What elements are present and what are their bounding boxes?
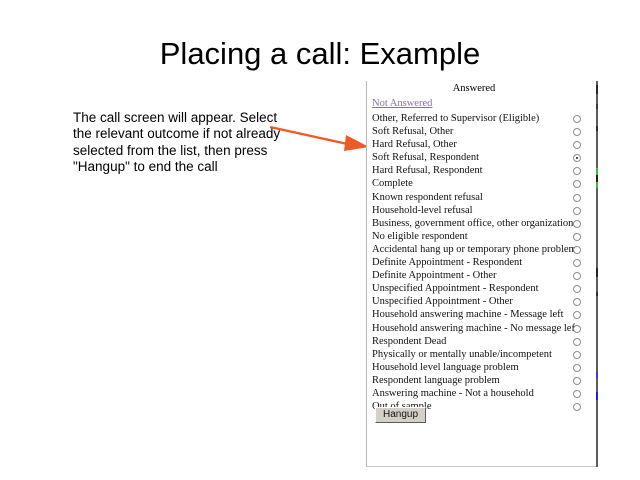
outcome-row[interactable]: Hard Refusal, Respondent	[367, 164, 597, 177]
outcome-row[interactable]: Other, Referred to Supervisor (Eligible)	[367, 112, 597, 125]
outcome-radio-button[interactable]	[573, 207, 581, 215]
outcome-radio-button[interactable]	[573, 154, 581, 162]
outcome-row[interactable]: No eligible respondent	[367, 230, 597, 243]
outcome-radio-button[interactable]	[573, 233, 581, 241]
outcome-row[interactable]: Unspecified Appointment - Other	[367, 295, 597, 308]
edge-artifact	[596, 168, 598, 175]
outcome-label: No eligible respondent	[372, 230, 468, 243]
outcome-label: Soft Refusal, Other	[372, 125, 453, 138]
outcome-radio-button[interactable]	[573, 338, 581, 346]
outcome-label: Respondent Dead	[372, 335, 446, 348]
outcome-radio-button[interactable]	[573, 141, 581, 149]
outcome-row[interactable]: Complete	[367, 177, 597, 190]
outcome-row[interactable]: Household answering machine - No message…	[367, 322, 597, 335]
outcome-label: Other, Referred to Supervisor (Eligible)	[372, 112, 539, 125]
outcome-radio-button[interactable]	[573, 180, 581, 188]
outcome-row[interactable]: Business, government office, other organ…	[367, 217, 597, 230]
outcome-label: Unspecified Appointment - Other	[372, 295, 513, 308]
outcome-radio-button[interactable]	[573, 377, 581, 385]
outcome-radio-button[interactable]	[573, 325, 581, 333]
outcome-radio-button[interactable]	[573, 246, 581, 254]
outcome-label: Soft Refusal, Respondent	[372, 151, 479, 164]
outcome-label: Answering machine - Not a household	[372, 387, 534, 400]
answered-heading: Answered	[367, 83, 581, 94]
outcome-label: Household level language problem	[372, 361, 519, 374]
outcome-label: Accidental hang up or temporary phone pr…	[372, 243, 577, 256]
outcome-radio-button[interactable]	[573, 272, 581, 280]
outcome-row[interactable]: Soft Refusal, Other	[367, 125, 597, 138]
arrow-annotation-icon	[268, 118, 378, 163]
page-title: Placing a call: Example	[0, 36, 640, 72]
outcome-label: Unspecified Appointment - Respondent	[372, 282, 539, 295]
outcome-radio-button[interactable]	[573, 128, 581, 136]
outcome-radio-button[interactable]	[573, 115, 581, 123]
hangup-button[interactable]: Hangup	[375, 407, 426, 423]
outcome-row[interactable]: Soft Refusal, Respondent	[367, 151, 597, 164]
outcome-label: Hard Refusal, Other	[372, 138, 457, 151]
outcome-row[interactable]: Household-level refusal	[367, 204, 597, 217]
outcome-label: Physically or mentally unable/incompeten…	[372, 348, 552, 361]
outcome-label: Known respondent refusal	[372, 191, 483, 204]
outcome-label: Complete	[372, 177, 413, 190]
outcome-row[interactable]: Household answering machine - Message le…	[367, 308, 597, 321]
outcome-radio-button[interactable]	[573, 194, 581, 202]
not-answered-link[interactable]: Not Answered	[372, 98, 432, 109]
outcome-radio-button[interactable]	[573, 220, 581, 228]
edge-artifact	[596, 126, 598, 131]
outcome-radio-button[interactable]	[573, 167, 581, 175]
edge-artifact	[596, 85, 598, 94]
outcome-label: Household-level refusal	[372, 204, 473, 217]
edge-artifact	[596, 104, 598, 109]
outcome-row[interactable]: Respondent Dead	[367, 335, 597, 348]
edge-artifact	[596, 372, 598, 378]
outcome-radio-button[interactable]	[573, 351, 581, 359]
outcome-radio-button[interactable]	[573, 298, 581, 306]
outcome-row[interactable]: Definite Appointment - Other	[367, 269, 597, 282]
outcome-row[interactable]: Household level language problem	[367, 361, 597, 374]
edge-artifact	[596, 292, 598, 296]
outcome-radio-button[interactable]	[573, 311, 581, 319]
outcome-row[interactable]: Hard Refusal, Other	[367, 138, 597, 151]
outcome-label: Business, government office, other organ…	[372, 217, 573, 230]
outcome-label: Hard Refusal, Respondent	[372, 164, 483, 177]
outcome-row[interactable]: Unspecified Appointment - Respondent	[367, 282, 597, 295]
outcome-label: Household answering machine - Message le…	[372, 308, 564, 321]
outcome-row[interactable]: Answering machine - Not a household	[367, 387, 597, 400]
call-screen-panel: Answered Not Answered Other, Referred to…	[366, 81, 598, 467]
callout-text: The call screen will appear. Select the …	[73, 110, 283, 176]
outcome-radio-button[interactable]	[573, 285, 581, 293]
outcome-row[interactable]: Respondent language problem	[367, 374, 597, 387]
outcome-row[interactable]: Physically or mentally unable/incompeten…	[367, 348, 597, 361]
outcome-row[interactable]: Accidental hang up or temporary phone pr…	[367, 243, 597, 256]
outcome-label: Household answering machine - No message…	[372, 322, 578, 335]
outcome-label: Respondent language problem	[372, 374, 500, 387]
outcome-row[interactable]: Definite Appointment - Respondent	[367, 256, 597, 269]
edge-artifact	[596, 392, 598, 400]
outcome-radio-button[interactable]	[573, 259, 581, 267]
outcome-label: Definite Appointment - Respondent	[372, 256, 522, 269]
edge-artifact	[596, 175, 598, 182]
outcome-radio-button[interactable]	[573, 364, 581, 372]
outcome-radio-button[interactable]	[573, 390, 581, 398]
outcome-row[interactable]: Known respondent refusal	[367, 191, 597, 204]
edge-artifact	[596, 182, 598, 188]
edge-artifact	[596, 268, 598, 277]
outcome-radio-button[interactable]	[573, 403, 581, 411]
call-outcome-list: Other, Referred to Supervisor (Eligible)…	[367, 112, 597, 413]
outcome-label: Definite Appointment - Other	[372, 269, 497, 282]
